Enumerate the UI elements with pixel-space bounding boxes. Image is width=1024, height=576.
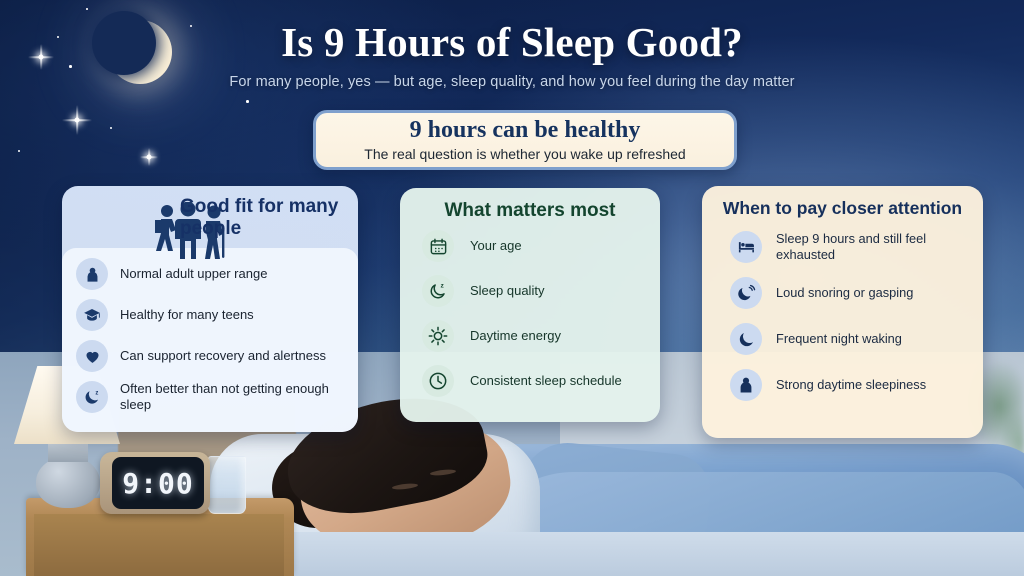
card-good-fit-heading: Good fit for many people <box>180 196 350 241</box>
alarm-clock-time: 9:00 <box>122 467 193 500</box>
star-icon <box>246 100 249 103</box>
list-item-label: Sleep 9 hours and still feel exhausted <box>776 231 956 263</box>
list-item: Sleep 9 hours and still feel exhausted <box>730 231 983 263</box>
list-item-label: Normal adult upper range <box>120 266 267 282</box>
calendar-icon <box>422 230 454 262</box>
list-item-label: Sleep quality <box>470 283 544 299</box>
lamp-neck <box>48 444 88 462</box>
card-what-matters: What matters most Your age <box>400 188 660 422</box>
card-good-fit-list: Normal adult upper range Healthy for man… <box>76 258 356 422</box>
bed-sheet <box>180 532 1024 576</box>
sun-icon <box>422 320 454 352</box>
person-icon <box>76 258 108 290</box>
list-item-label: Daytime energy <box>470 328 561 344</box>
heart-icon <box>76 340 108 372</box>
banner-subtitle: The real question is whether you wake up… <box>364 146 685 162</box>
list-item: Strong daytime sleepiness <box>730 369 983 401</box>
card-good-fit: Good fit for many people Normal adult up… <box>62 186 358 432</box>
list-item-label: Frequent night waking <box>776 331 956 347</box>
list-item: Can support recovery and alertness <box>76 340 356 372</box>
list-item: Frequent night waking <box>730 323 983 355</box>
bed-icon <box>730 231 762 263</box>
key-message-banner: 9 hours can be healthy The real question… <box>313 110 737 170</box>
card-pay-attention-list: Sleep 9 hours and still feel exhausted L… <box>702 231 983 401</box>
moon-z-icon: z <box>422 275 454 307</box>
person-icon <box>730 369 762 401</box>
list-item: Daytime energy <box>422 320 660 352</box>
list-item: Consistent sleep schedule <box>422 365 660 397</box>
list-item-label: Healthy for many teens <box>120 307 254 323</box>
list-item: z Sleep quality <box>422 275 660 307</box>
lamp-base-body <box>36 456 100 508</box>
list-item: Healthy for many teens <box>76 299 356 331</box>
list-item-label: Often better than not getting enough sle… <box>120 381 356 413</box>
list-item: Normal adult upper range <box>76 258 356 290</box>
alarm-clock: 9:00 <box>100 452 210 514</box>
graduation-cap-icon <box>76 299 108 331</box>
water-glass <box>208 456 246 514</box>
svg-text:z: z <box>95 390 98 396</box>
card-pay-attention-heading: When to pay closer attention <box>702 198 983 219</box>
page-subtitle: For many people, yes — but age, sleep qu… <box>0 74 1024 90</box>
list-item-label: Consistent sleep schedule <box>470 373 622 389</box>
infographic-canvas: 9:00 Is 9 Hours of Sleep Good? For many … <box>0 0 1024 576</box>
star-sparkle-icon <box>140 148 158 166</box>
list-item-label: Loud snoring or gasping <box>776 285 956 301</box>
star-icon <box>18 150 20 152</box>
list-item-label: Strong daytime sleepiness <box>776 377 956 393</box>
list-item: Your age <box>422 230 660 262</box>
snoring-moon-icon <box>730 277 762 309</box>
star-icon <box>110 127 112 129</box>
card-pay-attention: When to pay closer attention Sleep 9 hou… <box>702 186 983 438</box>
clock-icon <box>422 365 454 397</box>
list-item: Loud snoring or gasping <box>730 277 983 309</box>
page-title: Is 9 Hours of Sleep Good? <box>0 18 1024 66</box>
card-what-matters-heading: What matters most <box>400 200 660 222</box>
svg-text:z: z <box>441 283 445 290</box>
moon-icon <box>730 323 762 355</box>
star-sparkle-icon <box>62 105 92 135</box>
star-icon <box>86 8 88 10</box>
list-item-label: Your age <box>470 238 522 254</box>
moon-z-icon: z <box>76 381 108 413</box>
list-item: z Often better than not getting enough s… <box>76 381 356 413</box>
alarm-clock-screen: 9:00 <box>112 457 204 509</box>
list-item-label: Can support recovery and alertness <box>120 348 326 364</box>
card-what-matters-list: Your age z Sleep quality <box>400 230 660 397</box>
banner-title: 9 hours can be healthy <box>410 118 641 143</box>
